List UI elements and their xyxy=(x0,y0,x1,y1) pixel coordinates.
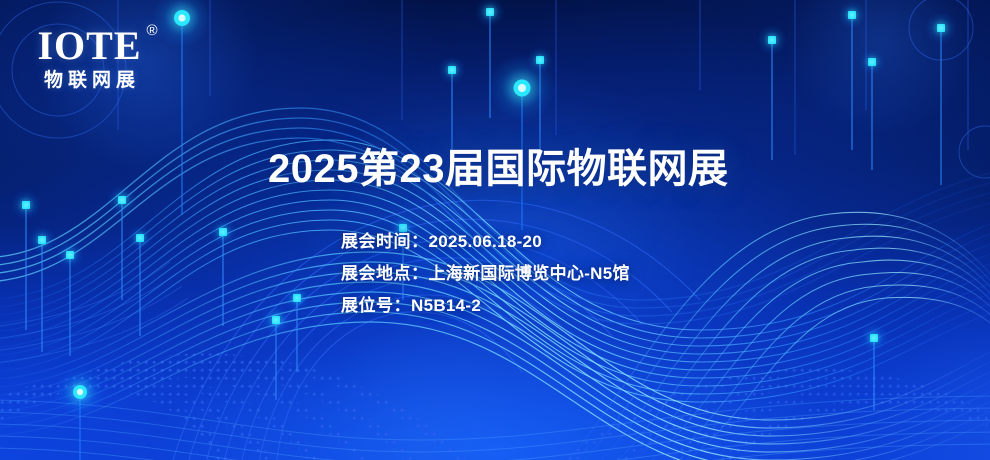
event-banner: IOTE ® 物联网展 2025第23届国际物联网展 展会时间：2025.06.… xyxy=(0,0,990,460)
detail-row-venue: 展会地点：上海新国际博览中心-N5馆 xyxy=(341,265,630,282)
detail-value-date: 2025.06.18-20 xyxy=(429,232,543,251)
iote-logo: IOTE ® 物联网展 xyxy=(22,26,157,90)
detail-label-booth: 展位号： xyxy=(341,296,411,315)
detail-label-venue: 展会地点： xyxy=(341,264,429,283)
detail-label-date: 展会时间： xyxy=(341,232,429,251)
detail-row-date: 展会时间：2025.06.18-20 xyxy=(341,233,630,250)
detail-value-booth: N5B14-2 xyxy=(411,296,481,315)
detail-row-booth: 展位号：N5B14-2 xyxy=(341,297,630,314)
event-details: 展会时间：2025.06.18-20 展会地点：上海新国际博览中心-N5馆 展位… xyxy=(341,233,630,314)
detail-value-venue: 上海新国际博览中心-N5馆 xyxy=(429,264,630,283)
logo-chinese-name: 物联网展 xyxy=(22,71,157,90)
logo-wordmark-text: IOTE xyxy=(37,23,141,68)
registered-trademark-icon: ® xyxy=(146,23,158,38)
logo-wordmark: IOTE ® xyxy=(37,26,141,66)
page-title: 2025第23届国际物联网展 xyxy=(268,136,728,194)
